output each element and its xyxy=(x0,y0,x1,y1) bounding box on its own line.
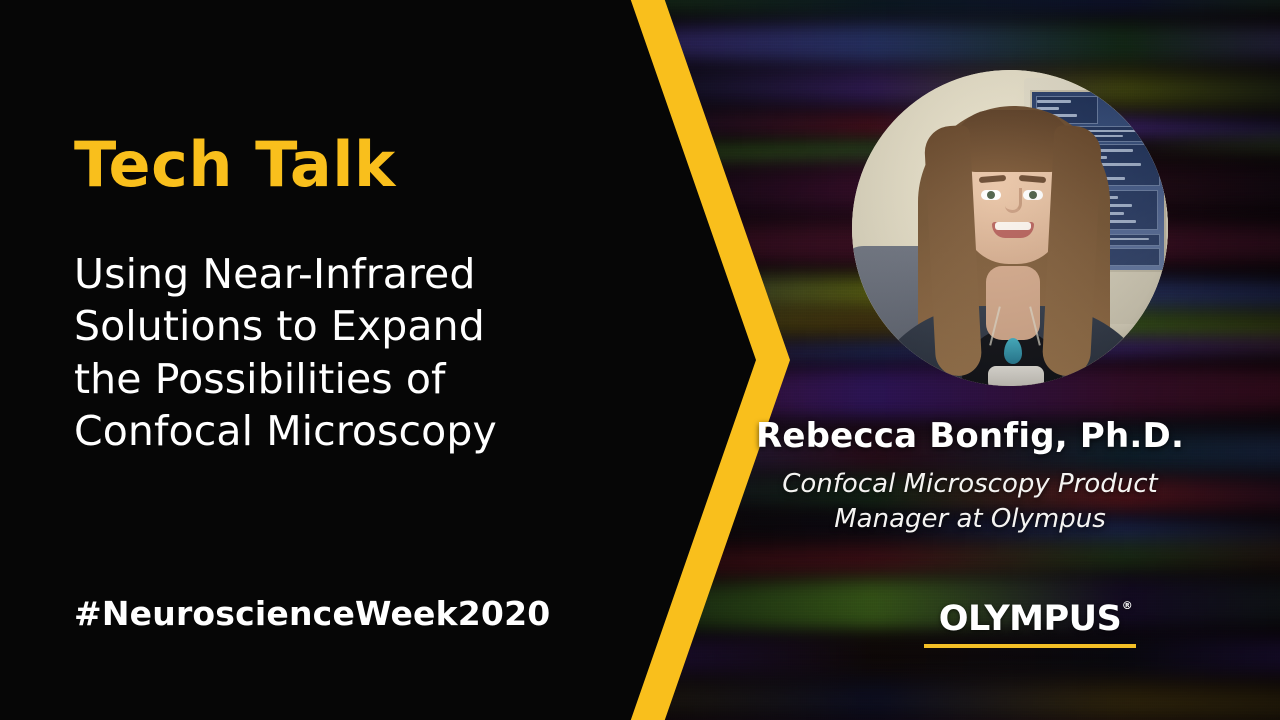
olympus-wordmark: OLYMPUS® xyxy=(939,602,1122,637)
left-content: Tech Talk Using Near-Infrared Solutions … xyxy=(74,0,614,720)
olympus-underline-rule xyxy=(924,644,1136,648)
title-line: Confocal Microscopy xyxy=(74,405,644,457)
speaker-name: Rebecca Bonfig, Ph.D. xyxy=(690,418,1250,455)
speaker-role-line: Manager at Olympus xyxy=(690,502,1250,537)
avatar xyxy=(852,70,1168,386)
page-title: Using Near-Infrared Solutions to Expand … xyxy=(74,248,644,458)
tech-talk-promo-slide: Tech Talk Using Near-Infrared Solutions … xyxy=(0,0,1280,720)
olympus-logo: OLYMPUS® xyxy=(915,602,1145,648)
title-line: Using Near-Infrared xyxy=(74,248,644,300)
title-line: Solutions to Expand xyxy=(74,300,644,352)
title-line: the Possibilities of xyxy=(74,353,644,405)
photo-shading xyxy=(852,70,1168,386)
registered-trademark-icon: ® xyxy=(1122,600,1133,611)
speaker-block: Rebecca Bonfig, Ph.D. Confocal Microscop… xyxy=(690,418,1250,538)
hashtag: #NeuroscienceWeek2020 xyxy=(74,594,550,633)
speaker-role: Confocal Microscopy Product Manager at O… xyxy=(690,467,1250,537)
speaker-role-line: Confocal Microscopy Product xyxy=(690,467,1250,502)
kicker-tech-talk: Tech Talk xyxy=(74,134,396,196)
